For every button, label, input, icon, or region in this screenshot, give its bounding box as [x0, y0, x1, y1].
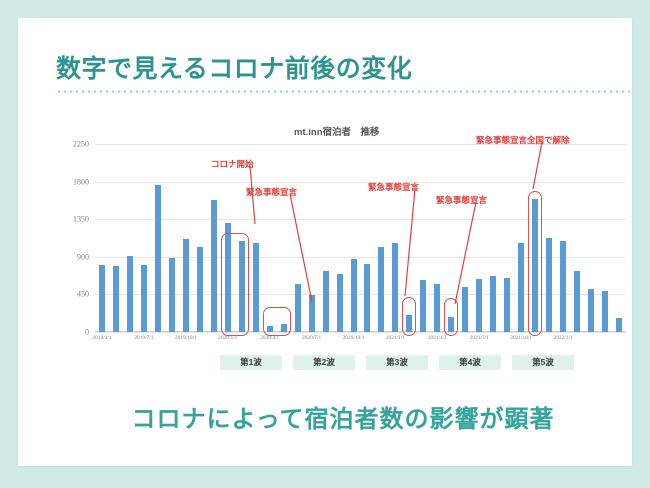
annotation-emergency-lifted: 緊急事態宣言全国で解除: [476, 134, 570, 146]
wave-label-5: 第5波: [512, 355, 574, 370]
highlight-emergency-1: [263, 307, 291, 336]
chart-bar: [211, 200, 217, 332]
chart-bar: [351, 259, 357, 332]
annotation-emergency-2: 緊急事態宣言: [368, 181, 419, 193]
chart-bar: [295, 284, 301, 332]
x-axis-tick-label: 2019/10/1: [175, 335, 197, 341]
chart-container: mt.inn宿泊者 推移 04509001350180022502019/4/1…: [56, 116, 636, 356]
wave-label-3: 第3波: [366, 355, 428, 370]
highlight-emergency-lifted: [528, 191, 542, 336]
x-axis-tick-label: 2021/4/1: [428, 335, 447, 341]
chart-title: mt.inn宿泊者 推移: [294, 124, 380, 138]
annotation-corona-start: コロナ開始: [211, 158, 254, 170]
y-axis-tick-label: 0: [85, 328, 89, 337]
x-axis-tick-label: 2019/4/1: [92, 335, 111, 341]
chart-bar: [378, 247, 384, 332]
chart-bar: [392, 243, 398, 332]
chart-bar: [99, 265, 105, 332]
chart-bar: [197, 247, 203, 332]
x-axis-tick-label: 2019/7/1: [134, 335, 153, 341]
y-axis-tick-label: 2250: [73, 140, 89, 149]
y-axis-tick-label: 900: [77, 252, 89, 261]
chart-bar: [616, 318, 622, 332]
gridline: [95, 332, 626, 333]
slide-caption: コロナによって宿泊者数の影響が顕著: [18, 399, 650, 434]
chart-bar: [309, 295, 315, 332]
x-axis-tick-label: 2021/7/1: [470, 335, 489, 341]
chart-bar: [462, 287, 468, 332]
chart-bar: [323, 271, 329, 332]
x-axis-tick-label: 2022/1/1: [554, 335, 573, 341]
chart-bar: [420, 280, 426, 332]
gridline: [95, 219, 626, 220]
annotation-emergency-1: 緊急事態宣言: [246, 186, 297, 198]
y-axis-tick-label: 450: [77, 290, 89, 299]
y-axis-tick-label: 1800: [73, 177, 89, 186]
chart-bar: [113, 266, 119, 332]
chart-bar: [253, 243, 259, 332]
chart-bar: [169, 258, 175, 332]
x-axis-tick-label: 2021/10/1: [510, 335, 532, 341]
chart-bar: [476, 279, 482, 332]
wave-label-1: 第1波: [220, 355, 282, 370]
wave-label-2: 第2波: [293, 355, 355, 370]
chart-bar: [602, 291, 608, 332]
highlight-corona-start: [221, 233, 249, 336]
wave-label-4: 第4波: [439, 355, 501, 370]
x-axis-tick-label: 2020/10/1: [343, 335, 365, 341]
slide-card: 数字で見えるコロナ前後の変化 mt.inn宿泊者 推移 045090013501…: [18, 18, 632, 466]
chart-bar: [588, 289, 594, 332]
chart-bar: [434, 284, 440, 332]
chart-bar: [490, 276, 496, 332]
x-axis-tick-label: 2020/7/1: [302, 335, 321, 341]
chart-bar: [127, 256, 133, 332]
annotation-emergency-3: 緊急事態宣言: [436, 194, 487, 206]
highlight-emergency-2: [402, 297, 416, 336]
title-divider: [56, 90, 630, 93]
gridline: [95, 182, 626, 183]
chart-bar: [364, 264, 370, 333]
chart-plot-area: 04509001350180022502019/4/12019/7/12019/…: [95, 144, 626, 332]
y-axis-tick-label: 1350: [73, 215, 89, 224]
highlight-emergency-3: [444, 298, 458, 336]
chart-bar: [155, 185, 161, 332]
chart-bar: [337, 274, 343, 332]
chart-bar: [574, 271, 580, 332]
chart-bar: [546, 238, 552, 332]
chart-bar: [183, 239, 189, 332]
chart-bar: [560, 241, 566, 332]
slide-root: 数字で見えるコロナ前後の変化 mt.inn宿泊者 推移 045090013501…: [0, 0, 650, 488]
x-axis-tick-label: 2021/1/1: [386, 335, 405, 341]
chart-bar: [504, 278, 510, 332]
page-title: 数字で見えるコロナ前後の変化: [56, 49, 412, 85]
chart-bar: [141, 265, 147, 332]
chart-bar: [518, 243, 524, 332]
